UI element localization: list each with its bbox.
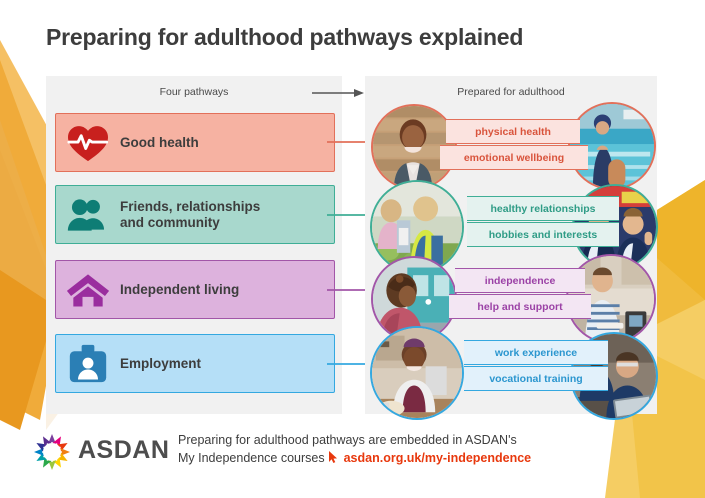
pathway-friends-relationships-community[interactable]: Friends, relationshipsand community	[55, 185, 335, 244]
footer-text: Preparing for adulthood pathways are emb…	[178, 432, 531, 468]
outcome-physical-health: physical health	[446, 119, 580, 144]
people-icon	[66, 193, 110, 237]
outcome-independence: independence	[455, 268, 585, 293]
outcome-help-and-support: help and support	[449, 294, 591, 319]
outcome-label: emotional wellbeing	[464, 152, 564, 164]
outcome-label: work experience	[495, 347, 577, 359]
pathway-label: Employment	[120, 356, 201, 372]
outcome-healthy-relationships: healthy relationships	[467, 196, 619, 221]
pathway-label: Good health	[120, 135, 199, 151]
outcome-label: hobbies and interests	[489, 229, 598, 241]
arrow-right-icon	[312, 86, 364, 100]
pathway-employment[interactable]: Employment	[55, 334, 335, 393]
house-icon	[66, 268, 110, 312]
outcome-label: healthy relationships	[490, 203, 595, 215]
outcome-label: vocational training	[489, 373, 582, 385]
footer-line-1: Preparing for adulthood pathways are emb…	[178, 432, 531, 450]
right-panel-heading: Prepared for adulthood	[365, 86, 657, 98]
outcome-work-experience: work experience	[464, 340, 608, 365]
cursor-pointer-icon	[328, 450, 339, 464]
footer-line-2: My Independence courses	[178, 451, 325, 465]
outcome-label: independence	[485, 275, 556, 287]
left-panel-heading: Four pathways	[46, 86, 342, 98]
footer-url-link[interactable]: asdan.org.uk/my-independence	[344, 451, 532, 465]
heart-pulse-icon	[66, 121, 110, 165]
barista-in-cafe-photo	[370, 326, 464, 420]
pathway-independent-living[interactable]: Independent living	[55, 260, 335, 319]
outcome-hobbies-and-interests: hobbies and interests	[467, 222, 619, 247]
outcome-label: help and support	[477, 301, 562, 313]
pathway-label: Independent living	[120, 282, 239, 298]
page-title: Preparing for adulthood pathways explain…	[46, 24, 523, 51]
outcome-emotional-wellbeing: emotional wellbeing	[440, 145, 588, 170]
id-badge-icon	[66, 342, 110, 386]
footer-line-2-row: My Independence courses asdan.org.uk/my-…	[178, 450, 531, 468]
pathway-good-health[interactable]: Good health	[55, 113, 335, 172]
outcome-label: physical health	[475, 126, 551, 138]
asdan-petal-logo	[30, 430, 74, 474]
asdan-wordmark: ASDAN	[78, 436, 169, 465]
outcome-vocational-training: vocational training	[464, 366, 608, 391]
pathway-label: Friends, relationshipsand community	[120, 199, 260, 231]
